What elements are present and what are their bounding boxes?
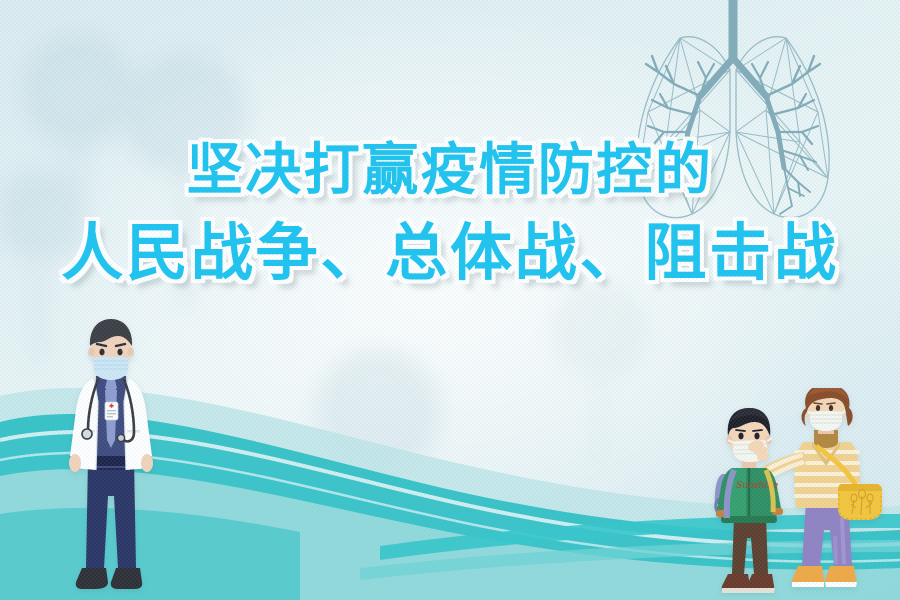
family-illustration: Sunshine [706, 388, 892, 600]
doctor-illustration [48, 310, 174, 600]
wireframe-lungs-icon [588, 0, 878, 227]
shoulder-bag [838, 484, 882, 520]
poster-canvas: 坚决打赢疫情防控的 人民战争、总体战、阻击战 [0, 0, 900, 600]
